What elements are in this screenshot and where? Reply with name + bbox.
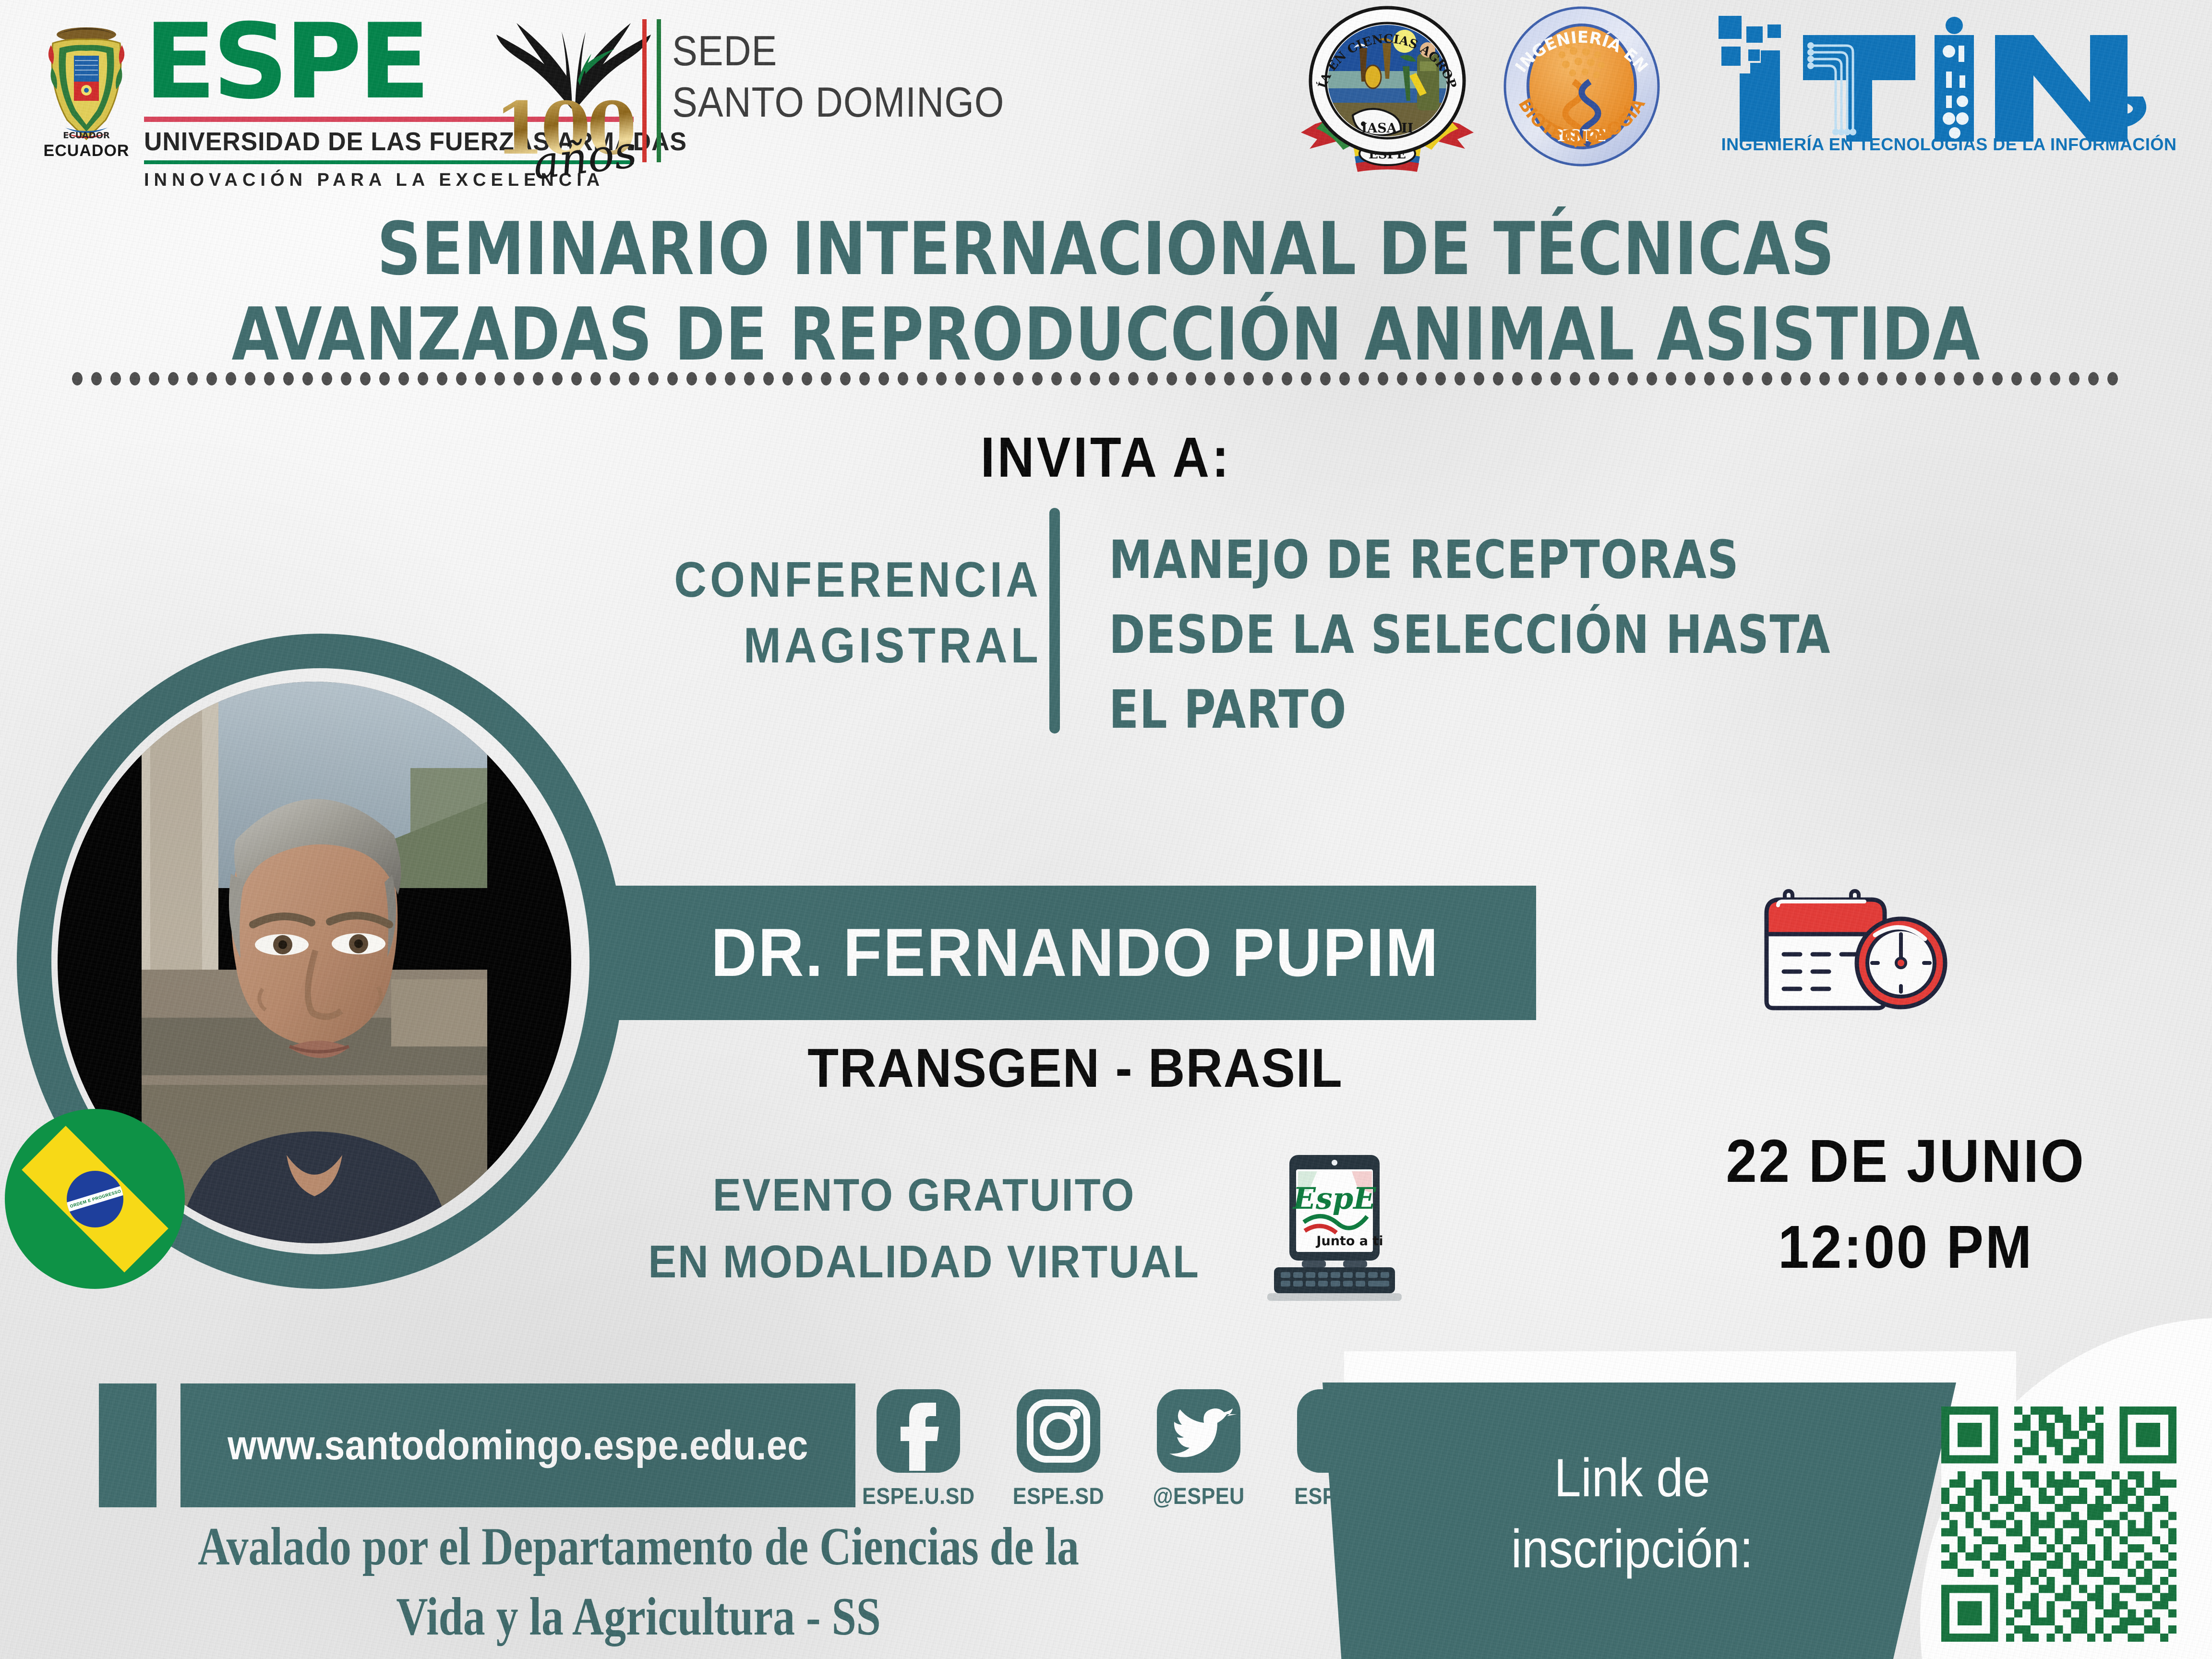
schedule: 22 DE JUNIO 12:00 PM <box>1645 1118 2166 1290</box>
dotted-divider <box>71 371 2126 387</box>
facebook-icon[interactable] <box>875 1387 962 1475</box>
instagram-icon[interactable] <box>1015 1387 1102 1475</box>
registration-line-2: inscripción: <box>1416 1514 1848 1585</box>
title-line-1: SEMINARIO INTERNACIONAL DE TÉCNICAS <box>77 206 2134 292</box>
itin-logo-icon <box>1709 12 2189 151</box>
speaker-name: DR. FERNANDO PUPIM <box>711 914 1440 992</box>
registration-qr-code[interactable] <box>1941 1407 2176 1642</box>
anniversary-100-years-mark: 100 años <box>494 86 658 182</box>
speaker-affiliation: TRANSGEN - BRASIL <box>647 1037 1504 1100</box>
header: ECUADOR ECUADOR ESPE UNIVERSIDAD DE LAS … <box>0 0 2212 192</box>
iasa-seal-icon: ESPE <box>1296 4 1479 181</box>
divider-red-bar <box>642 19 647 162</box>
divider-green-bar <box>657 19 661 162</box>
modality-line-2: EN MODALIDAD VIRTUAL <box>617 1228 1231 1295</box>
conference-topic: MANEJO DE RECEPTORAS DESDE LA SELECCIÓN … <box>1109 522 2023 747</box>
svg-text:EspE: EspE <box>1292 1181 1377 1216</box>
conference-vertical-rule <box>1049 508 1060 733</box>
topic-line-2: DESDE LA SELECCIÓN HASTA <box>1109 597 2023 672</box>
twitter-icon[interactable] <box>1155 1387 1242 1475</box>
calendar-clock-icon <box>1757 869 1997 1027</box>
endorsement-line-1: Avalado por el Departamento de Ciencias … <box>87 1512 1190 1582</box>
campus-line-2: SANTO DOMINGO <box>672 76 1004 128</box>
twitter-handle: @ESPEU <box>1142 1483 1255 1510</box>
registration-label: Link de inscripción: <box>1416 1443 1848 1585</box>
biotech-seal-icon: ESPE INGENIERÍA EN BIOTECNOLOGÍA <box>1503 5 1661 168</box>
laptop-icon: EspE Junto a ti <box>1248 1152 1421 1306</box>
poster-canvas: ECUADOR ECUADOR ESPE UNIVERSIDAD DE LAS … <box>0 0 2212 1659</box>
brazil-flag-icon: ORDEM E PROGRESSO <box>5 1109 185 1289</box>
campus-name: SEDE SANTO DOMINGO <box>672 25 1004 128</box>
flag-motto-band: ORDEM E PROGRESSO <box>67 1184 123 1213</box>
conference-kind-line-1: CONFERENCIA <box>640 547 1042 613</box>
flag-motto-text: ORDEM E PROGRESSO <box>67 1184 123 1213</box>
instagram-handle: ESPE.SD <box>1002 1483 1115 1510</box>
speaker-name-banner: DR. FERNANDO PUPIM <box>614 886 1536 1020</box>
speaker-portrait-image <box>142 682 487 1243</box>
website-box[interactable]: www.santodomingo.espe.edu.ec <box>180 1383 855 1507</box>
ecuador-shield-icon: ECUADOR <box>38 14 134 144</box>
website-url[interactable]: www.santodomingo.espe.edu.ec <box>214 1383 821 1507</box>
modality-note: EVENTO GRATUITO EN MODALIDAD VIRTUAL <box>617 1162 1231 1295</box>
website-accent-bar <box>99 1383 156 1507</box>
schedule-date: 22 DE JUNIO <box>1645 1118 2166 1204</box>
topic-line-3: EL PARTO <box>1109 672 2023 747</box>
facebook-handle: ESPE.U.SD <box>862 1483 974 1510</box>
itin-subtitle: INGENIERÍA EN TECNOLOGÍAS DE LA INFORMAC… <box>1714 134 2184 155</box>
registration-line-1: Link de <box>1416 1443 1848 1514</box>
svg-text:ECUADOR: ECUADOR <box>63 131 110 141</box>
invite-label: INVITA A: <box>110 425 2101 490</box>
endorsement: Avalado por el Departamento de Ciencias … <box>87 1512 1190 1652</box>
schedule-time: 12:00 PM <box>1645 1204 2166 1290</box>
svg-text:Junto a ti: Junto a ti <box>1315 1234 1383 1249</box>
shield-country-label: ECUADOR <box>34 142 139 160</box>
modality-line-1: EVENTO GRATUITO <box>617 1162 1231 1228</box>
iasa-code-text: IASA II <box>1361 121 1414 136</box>
conference-kind: CONFERENCIA MAGISTRAL <box>640 547 1042 679</box>
flag-globe: ORDEM E PROGRESSO <box>67 1171 123 1227</box>
topic-line-1: MANEJO DE RECEPTORAS <box>1109 522 2023 597</box>
title-line-2: AVANZADAS DE REPRODUCCIÓN ANIMAL ASISTID… <box>77 292 2134 377</box>
conference-kind-line-2: MAGISTRAL <box>640 613 1042 679</box>
campus-line-1: SEDE <box>672 25 1004 76</box>
endorsement-line-2: Vida y la Agricultura - SS <box>87 1582 1190 1652</box>
page-title: SEMINARIO INTERNACIONAL DE TÉCNICAS AVAN… <box>0 206 2212 377</box>
